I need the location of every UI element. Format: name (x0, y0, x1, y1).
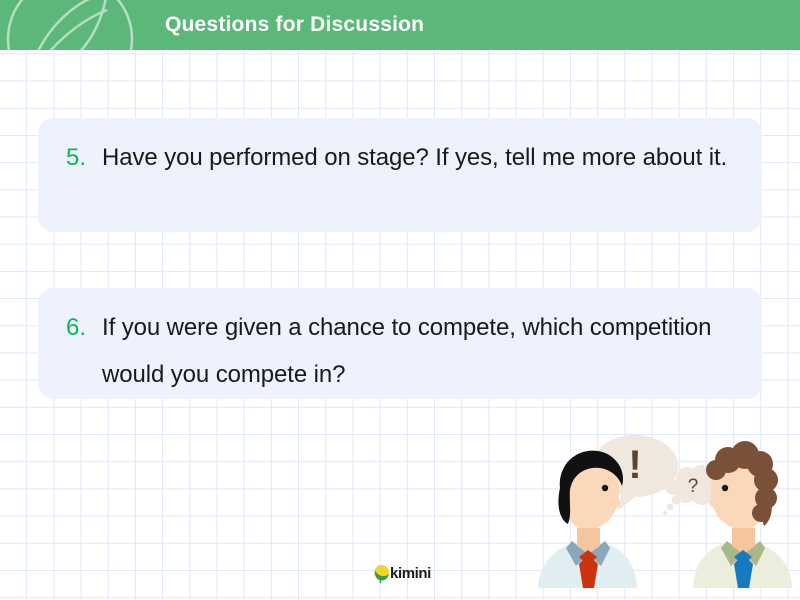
header-bar: Questions for Discussion (0, 0, 800, 50)
thought-bubble-text: ? (688, 476, 699, 497)
kimini-logo: kimini (373, 562, 431, 584)
leaf-logo-watermark-icon (0, 0, 145, 50)
question-number: 6. (66, 304, 102, 351)
question-number: 5. (66, 134, 102, 181)
page-title: Questions for Discussion (165, 0, 424, 50)
kimini-logo-text: kimini (390, 564, 431, 583)
question-box: 5. Have you performed on stage? If yes, … (38, 118, 762, 232)
slide-canvas: Questions for Discussion 5. Have you per… (0, 0, 800, 600)
question-line: 5. Have you performed on stage? If yes, … (66, 134, 736, 181)
question-box: 6. If you were given a chance to compete… (38, 288, 762, 399)
kimini-leaf-icon (373, 564, 390, 583)
question-line: 6. If you were given a chance to compete… (66, 304, 736, 398)
conversation-illustration: ? ! (530, 428, 800, 588)
question-text: Have you performed on stage? If yes, tel… (102, 134, 736, 181)
speech-bubble-text: ! (628, 443, 641, 487)
question-text: If you were given a chance to compete, w… (102, 304, 736, 398)
